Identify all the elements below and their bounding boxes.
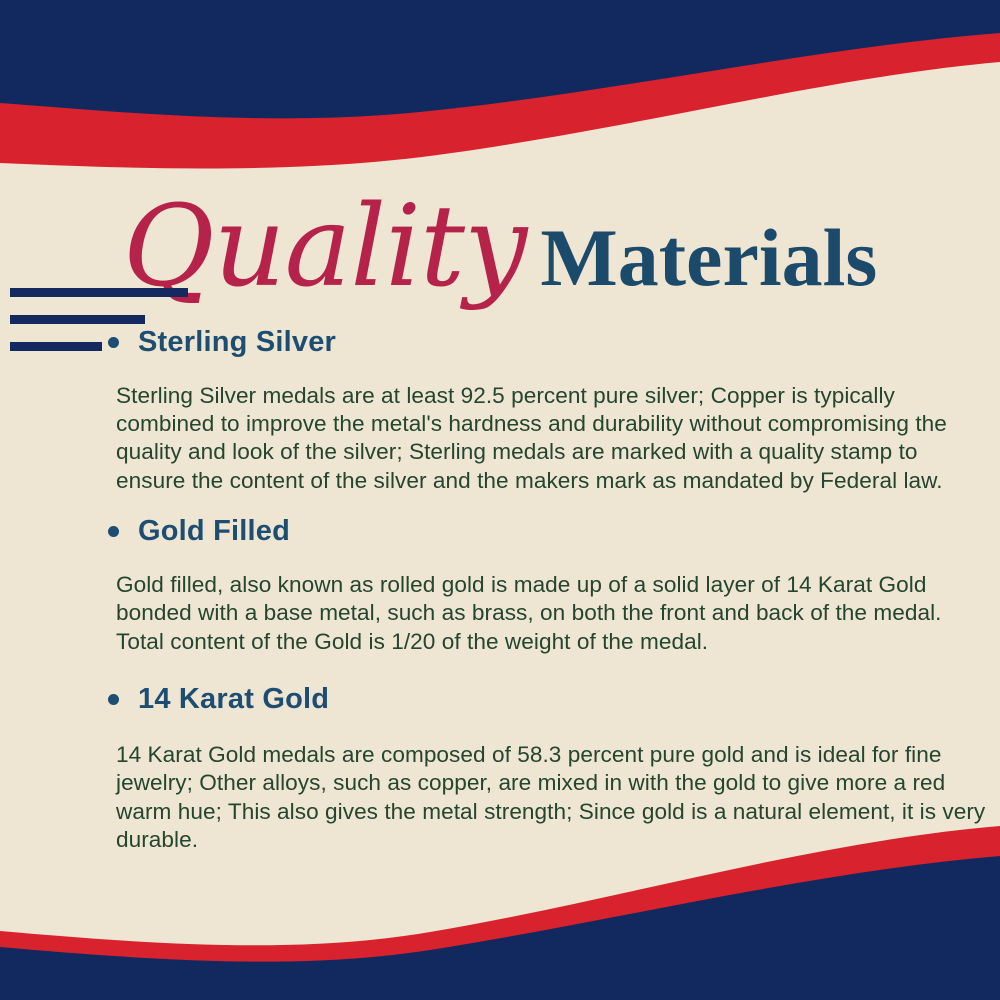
material-section-14-karat-gold: 14 Karat Gold 14 Karat Gold medals are c…: [0, 683, 1000, 855]
section-heading-row: 14 Karat Gold: [0, 683, 1000, 716]
section-heading-row: Sterling Silver: [0, 326, 1000, 359]
divider-line-medium: [10, 315, 145, 324]
section-heading-label: Sterling Silver: [138, 326, 336, 359]
bullet-dot-icon: [108, 337, 119, 348]
materials-list: Sterling Silver Sterling Silver medals a…: [0, 326, 1000, 877]
section-heading-label: 14 Karat Gold: [138, 683, 329, 716]
material-section-sterling-silver: Sterling Silver Sterling Silver medals a…: [0, 326, 1000, 495]
title-word-materials: Materials: [540, 212, 877, 303]
section-heading-row: Gold Filled: [0, 515, 1000, 548]
top-red-wave: [0, 0, 1000, 169]
section-body-text: Gold filled, also known as rolled gold i…: [0, 571, 1000, 656]
section-heading-label: Gold Filled: [138, 515, 290, 548]
bottom-navy-wave: [0, 856, 1000, 1000]
section-body-text: 14 Karat Gold medals are composed of 58.…: [0, 741, 1000, 855]
section-body-text: Sterling Silver medals are at least 92.5…: [0, 382, 1000, 496]
top-navy-wave: [0, 0, 1000, 118]
material-section-gold-filled: Gold Filled Gold filled, also known as r…: [0, 515, 1000, 656]
divider-line-long: [10, 288, 188, 297]
bullet-dot-icon: [108, 694, 119, 705]
poster-canvas: QualityMaterials Sterling Silver Sterlin…: [0, 0, 1000, 1000]
bullet-dot-icon: [108, 526, 119, 537]
